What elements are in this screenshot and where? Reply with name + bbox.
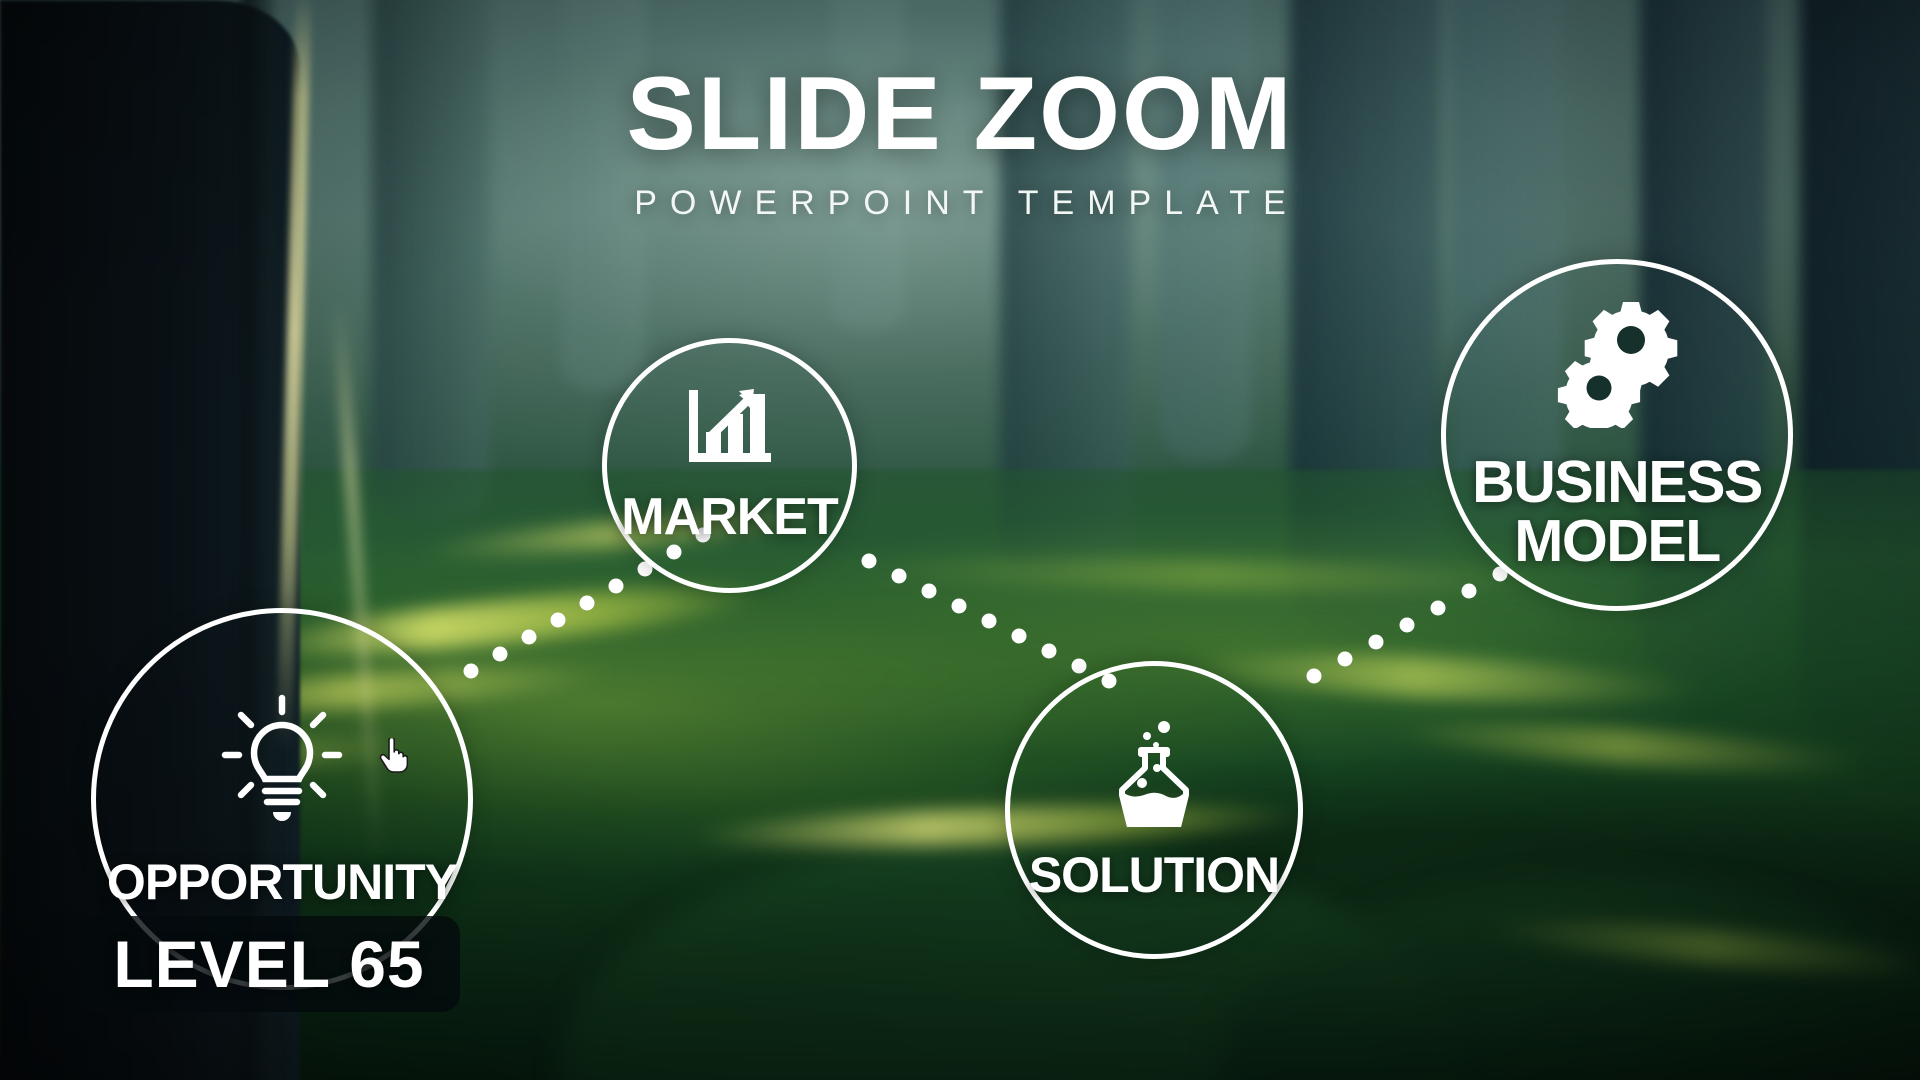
- bar-chart-growth-icon: [687, 388, 773, 475]
- flask-icon: [1108, 721, 1200, 832]
- page-subtitle: POWERPOINT TEMPLATE: [0, 184, 1920, 223]
- node-opportunity-label: OPPORTUNITY: [107, 857, 457, 907]
- node-solution[interactable]: SOLUTION: [1005, 661, 1303, 959]
- pointing-hand-cursor: [378, 738, 408, 774]
- node-business-model-label-line2: MODEL: [1514, 508, 1720, 574]
- page-title: SLIDE ZOOM: [0, 62, 1920, 166]
- gears-icon: [1555, 300, 1679, 433]
- node-business-model[interactable]: BUSINESS MODEL: [1441, 259, 1793, 611]
- node-business-model-label-line1: BUSINESS: [1472, 449, 1762, 515]
- node-market-label: MARKET: [621, 491, 837, 543]
- node-solution-label: SOLUTION: [1029, 850, 1279, 900]
- node-market[interactable]: MARKET: [602, 338, 857, 593]
- title-block: SLIDE ZOOM POWERPOINT TEMPLATE: [0, 62, 1920, 223]
- lightbulb-icon: [217, 692, 347, 833]
- slide-canvas: SLIDE ZOOM POWERPOINT TEMPLATE: [0, 0, 1920, 1080]
- level-badge: LEVEL 65: [78, 916, 460, 1012]
- level-badge-label: LEVEL 65: [113, 926, 424, 1002]
- node-business-model-label: BUSINESS MODEL: [1472, 453, 1762, 571]
